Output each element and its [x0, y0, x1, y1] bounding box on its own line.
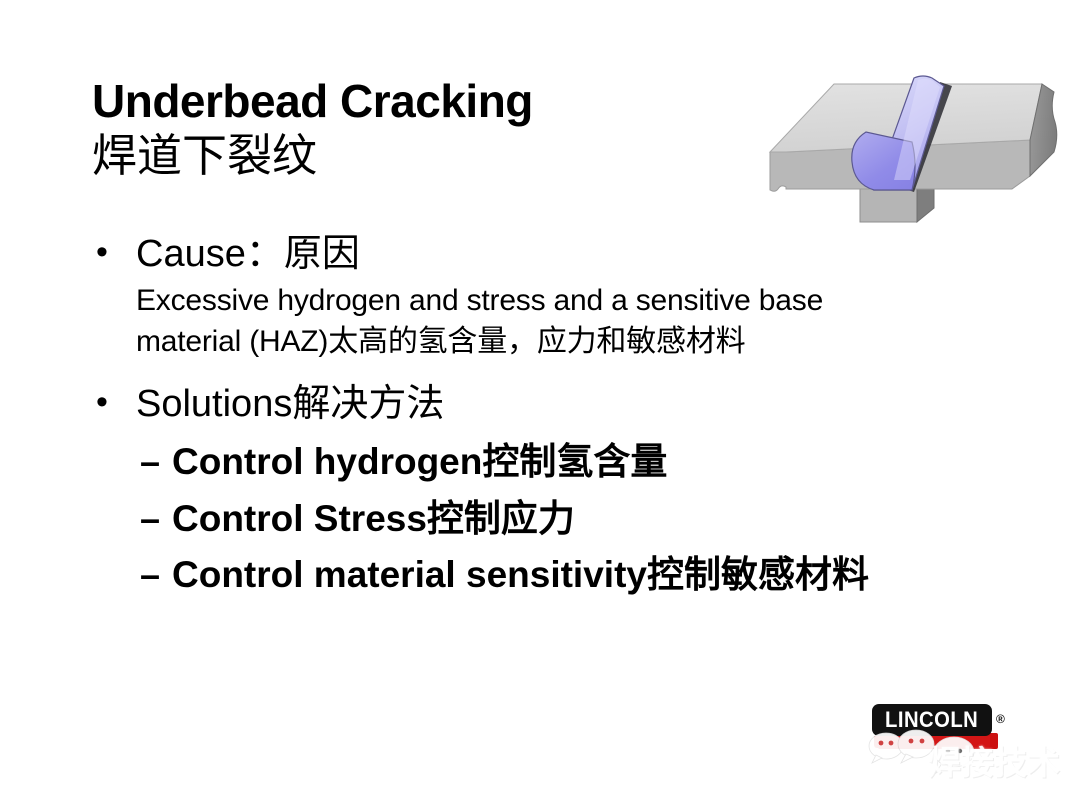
sub-bullet-label-control-material-sensitivity: Control material sensitivity控制敏感材料 — [172, 553, 972, 597]
page-title-english: Underbead Cracking — [92, 78, 752, 125]
sub-bullet-label-control-hydrogen: Control hydrogen控制氢含量 — [172, 440, 972, 484]
cause-paragraph: Excessive hydrogen and stress and a sens… — [136, 280, 996, 362]
sub-bullet-control-hydrogen: – Control hydrogen控制氢含量 — [140, 440, 972, 484]
weld-bead-diagram — [762, 62, 1062, 232]
watermark-label: 焊接技术 — [928, 736, 1060, 784]
bullet-marker-icon: • — [92, 382, 136, 422]
lincoln-electric-logo: LINCOLN ® — [866, 702, 1066, 798]
sub-bullet-control-stress: – Control Stress控制应力 — [140, 497, 972, 541]
page-title-chinese: 焊道下裂纹 — [92, 129, 752, 182]
cause-paragraph-line-2: material (HAZ)太高的氢含量，应力和敏感材料 — [136, 321, 996, 362]
registered-trademark-icon: ® — [996, 712, 1005, 726]
bullet-item-solutions: • Solutions解决方法 — [92, 382, 972, 426]
sub-bullet-label-control-stress: Control Stress控制应力 — [172, 497, 972, 541]
bullet-label-cause: Cause：原因 — [136, 232, 360, 276]
bullet-label-solutions: Solutions解决方法 — [136, 382, 444, 426]
slide-body: • Cause：原因 Excessive hydrogen and stress… — [92, 232, 972, 598]
dash-marker-icon: – — [140, 440, 172, 483]
sub-bullet-control-material-sensitivity: – Control material sensitivity控制敏感材料 — [140, 553, 972, 597]
weld-bead-illustration-svg — [762, 62, 1062, 232]
bullet-item-cause: • Cause：原因 — [92, 232, 972, 276]
dash-marker-icon: – — [140, 497, 172, 540]
dash-marker-icon: – — [140, 553, 172, 596]
slide-canvas: Underbead Cracking 焊道下裂纹 • Cause：原因 Exce… — [0, 0, 1080, 810]
wechat-watermark: 焊接技术 — [866, 728, 1066, 784]
bullet-marker-icon: • — [92, 232, 136, 272]
cause-paragraph-line-1: Excessive hydrogen and stress and a sens… — [136, 280, 996, 321]
slide-title-block: Underbead Cracking 焊道下裂纹 — [92, 78, 752, 182]
